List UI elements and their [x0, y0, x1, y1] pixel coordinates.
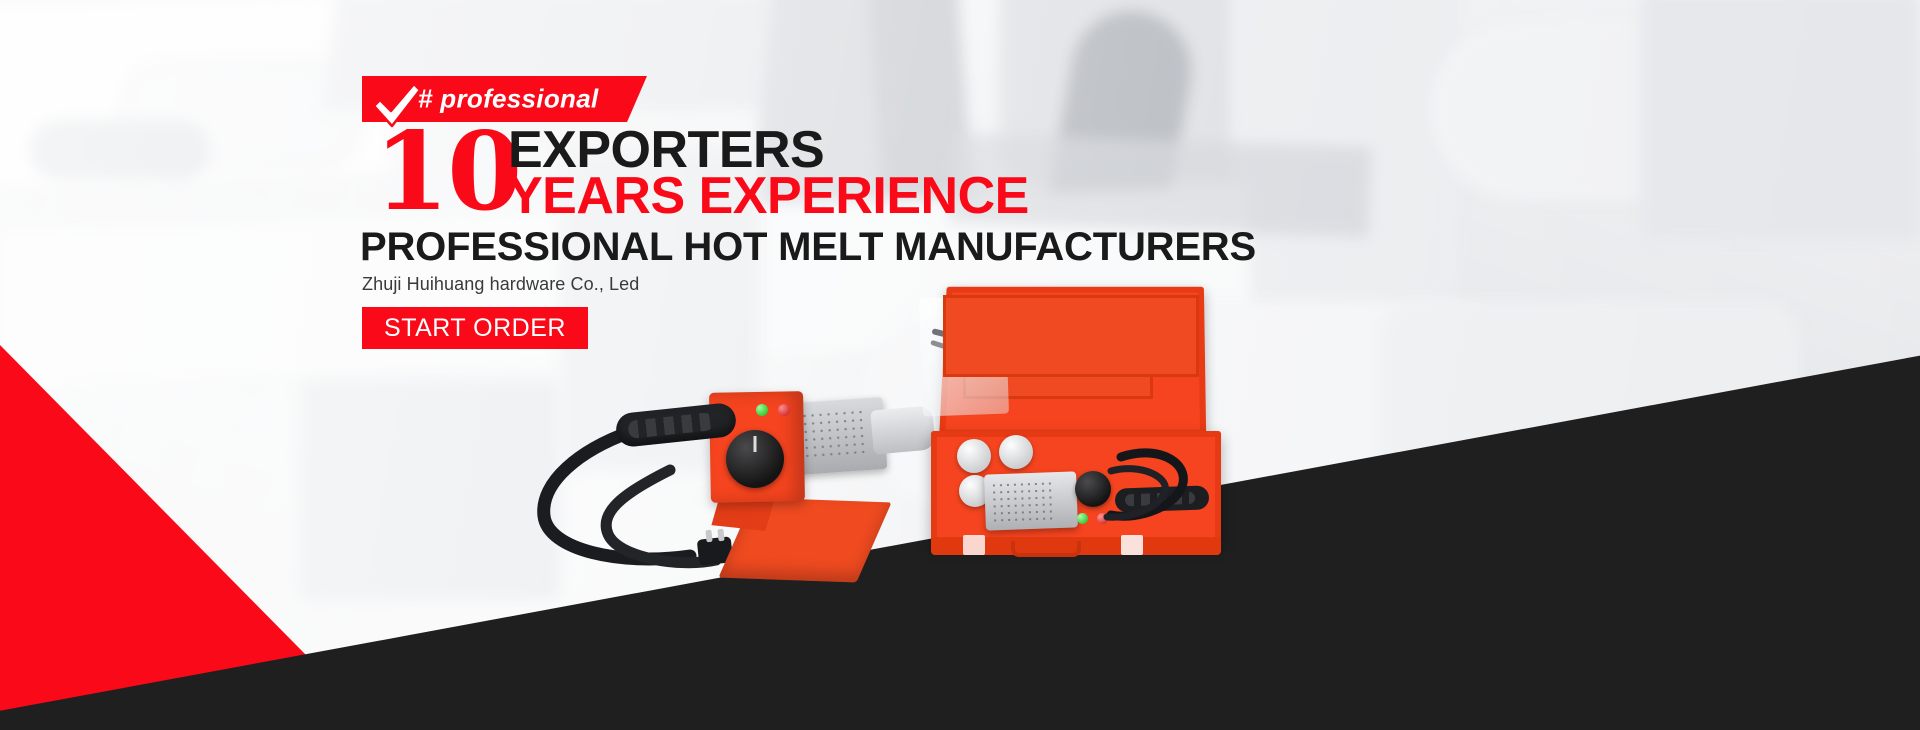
headline-subhead: PROFESSIONAL HOT MELT MANUFACTURERS [360, 225, 1256, 270]
check-mark-icon [370, 80, 422, 132]
company-name: Zhuji Huihuang hardware Co., Led [362, 274, 639, 295]
case-power-cord-icon [925, 285, 1225, 560]
start-order-button[interactable]: START ORDER [362, 307, 588, 349]
years-number: 10 [374, 120, 520, 224]
headline-years-experience: YEARS EXPERIENCE [508, 170, 1029, 222]
promo-banner: # professional 10 EXPORTERS YEARS EXPERI… [0, 0, 1920, 730]
product-tool-case [925, 285, 1225, 560]
headline-block: 10 EXPORTERS YEARS EXPERIENCE PROFESSION… [360, 122, 1360, 226]
product-welding-machine [520, 370, 940, 600]
